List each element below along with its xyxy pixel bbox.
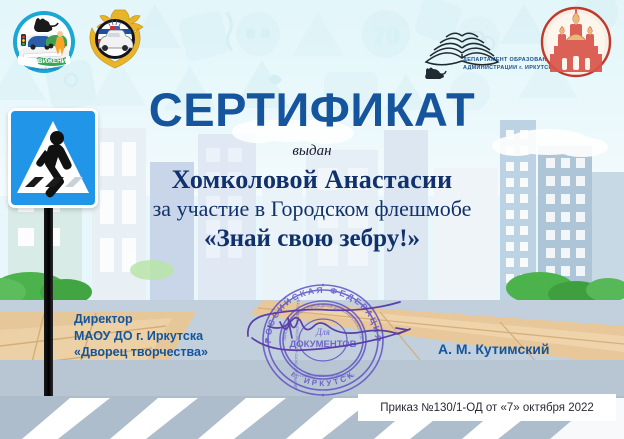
irkutsk-temple-emblem: ИРКУТСКАЯ ЕПАРХИЯ: [540, 6, 612, 78]
svg-text:ОГРН 1023801543210 ИНН 380801: ОГРН 1023801543210 ИНН 3808012345: [292, 374, 355, 378]
certificate: 70: [0, 0, 624, 439]
director-line-3: «Дворец творчества»: [74, 344, 208, 361]
handwritten-signature: [246, 296, 446, 362]
director-line-1: Директор: [74, 311, 208, 328]
director-line-2: МАОУ ДО г. Иркутска: [74, 328, 208, 345]
order-reference-plate: Приказ №130/1-ОД от «7» октября 2022: [358, 394, 616, 421]
prodvizhenie-emblem: ПРО ДВИЖЕНИЕ ГОРОДСКОЙ ПРОЕКТ: [12, 10, 76, 74]
svg-text:ДВИЖЕНИЕ: ДВИЖЕНИЕ: [33, 58, 71, 65]
sign-post: [44, 196, 53, 396]
signer-name: А. М. Кутимский: [438, 341, 549, 357]
pedestrian-crossing-sign: [8, 108, 98, 208]
order-reference-text: Приказ №130/1-ОД от «7» октября 2022: [380, 402, 594, 414]
gibdd-emblem: [82, 6, 148, 72]
svg-text:70: 70: [373, 23, 400, 50]
director-title-block: Директор МАОУ ДО г. Иркутска «Дворец тво…: [74, 311, 208, 361]
svg-text:ГОРОДСКОЙ ПРОЕКТ: ГОРОДСКОЙ ПРОЕКТ: [28, 67, 59, 71]
pedestrian-crossing-icon: [11, 111, 95, 205]
